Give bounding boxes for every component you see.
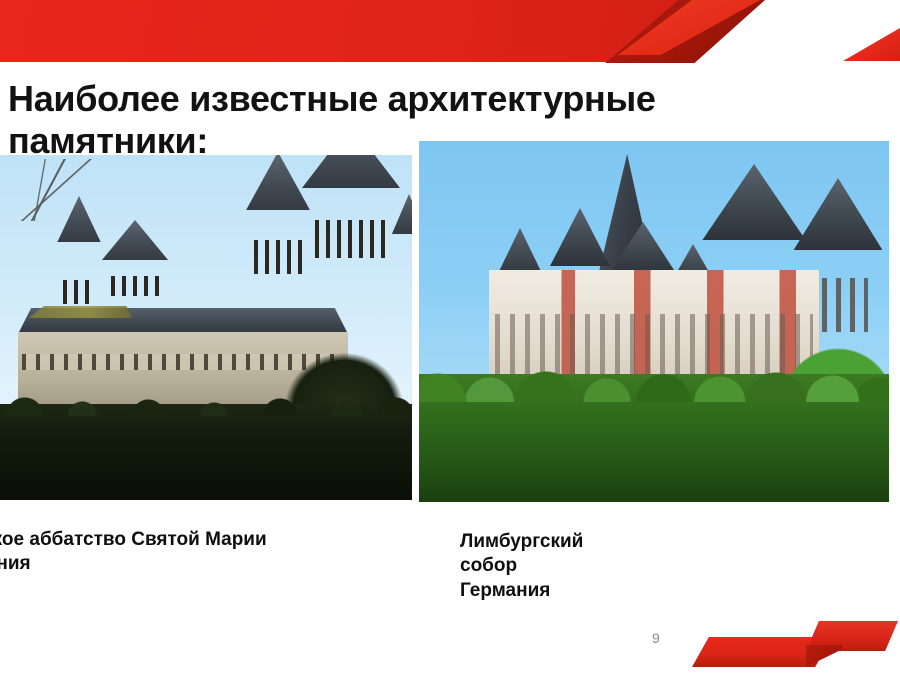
limburg-cathedral-photo [419, 141, 889, 502]
cathedral-tree-line [419, 374, 889, 502]
tower-windows [254, 240, 301, 274]
header-banner-decoration [0, 0, 900, 80]
maria-laach-abbey-photo [0, 155, 412, 500]
tower-windows [315, 220, 387, 258]
abbey-tower-center [106, 260, 164, 304]
footer-banner-decoration [660, 615, 900, 675]
abbey-tower-far-right [394, 234, 412, 330]
tree-branch-decor [0, 159, 106, 221]
caption-maria-laach: хское аббатство Святой Марии мания [0, 528, 442, 577]
page-number: 9 [652, 630, 660, 646]
header-corner-triangle-icon [843, 28, 900, 61]
caption-limburg: Лимбургский собор Германия [460, 530, 860, 603]
footer-banner-fold-shape [806, 645, 842, 667]
slide: Наиболее известные архитектурные памятни… [0, 0, 900, 675]
tower-windows [111, 276, 160, 296]
abbey-tree-line [0, 404, 412, 500]
tower-windows [63, 280, 95, 304]
